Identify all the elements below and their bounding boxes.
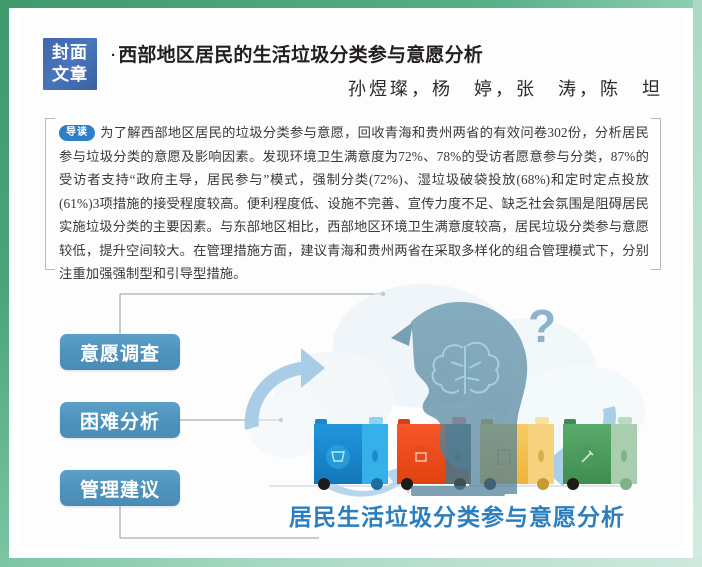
- abstract-bracket-right: [651, 118, 661, 270]
- title-row: ·西部地区居民的生活垃圾分类参与意愿分析: [111, 40, 651, 67]
- other-waste-bin: [563, 417, 637, 490]
- frame-border-left: [0, 0, 9, 567]
- frame-border-bottom: [0, 558, 702, 567]
- illustration-area: ? 意愿调查 困难分析 管理建议 居民生活垃圾分类参与意愿分析: [19, 276, 683, 548]
- cover-article-badge: 封面 文章: [43, 38, 97, 90]
- abstract-paragraph: 导读为了解西部地区居民的垃圾分类参与意愿，回收青海和贵州两省的有效问卷302份，…: [59, 121, 649, 286]
- frame-border-right: [693, 0, 702, 567]
- paper-surface: 封面 文章 ·西部地区居民的生活垃圾分类参与意愿分析 孙煜璨，杨 婷，张 涛，陈…: [19, 18, 683, 548]
- chip-difficulty-analysis[interactable]: 困难分析: [60, 402, 180, 438]
- title-bullet: ·: [111, 47, 116, 64]
- cover-badge-line1: 封面: [52, 42, 88, 64]
- abstract-block: 导读为了解西部地区居民的垃圾分类参与意愿，回收青海和贵州两省的有效问卷302份，…: [45, 118, 661, 270]
- page-title-text: 西部地区居民的生活垃圾分类参与意愿分析: [118, 45, 483, 66]
- recyclable-bin: [314, 417, 388, 490]
- magazine-cover-article-page: 封面 文章 ·西部地区居民的生活垃圾分类参与意愿分析 孙煜璨，杨 婷，张 涛，陈…: [0, 0, 702, 567]
- frame-border-top: [0, 0, 702, 8]
- author-list: 孙煜璨，杨 婷，张 涛，陈 坦: [111, 75, 663, 101]
- abstract-text: 为了解西部地区居民的垃圾分类参与意愿，回收青海和贵州两省的有效问卷302份，分析…: [59, 125, 649, 281]
- chip-management-advice[interactable]: 管理建议: [60, 470, 180, 506]
- cover-badge-line2: 文章: [52, 64, 88, 86]
- page-inner: 封面 文章 ·西部地区居民的生活垃圾分类参与意愿分析 孙煜璨，杨 婷，张 涛，陈…: [9, 8, 693, 558]
- illustration-caption: 居民生活垃圾分类参与意愿分析: [289, 498, 619, 532]
- abstract-bracket-left: [45, 118, 55, 270]
- page-title: ·西部地区居民的生活垃圾分类参与意愿分析: [111, 40, 651, 67]
- question-mark-icon: ?: [528, 300, 556, 352]
- chip-willingness-survey[interactable]: 意愿调查: [60, 334, 180, 370]
- lead-in-badge: 导读: [59, 125, 95, 141]
